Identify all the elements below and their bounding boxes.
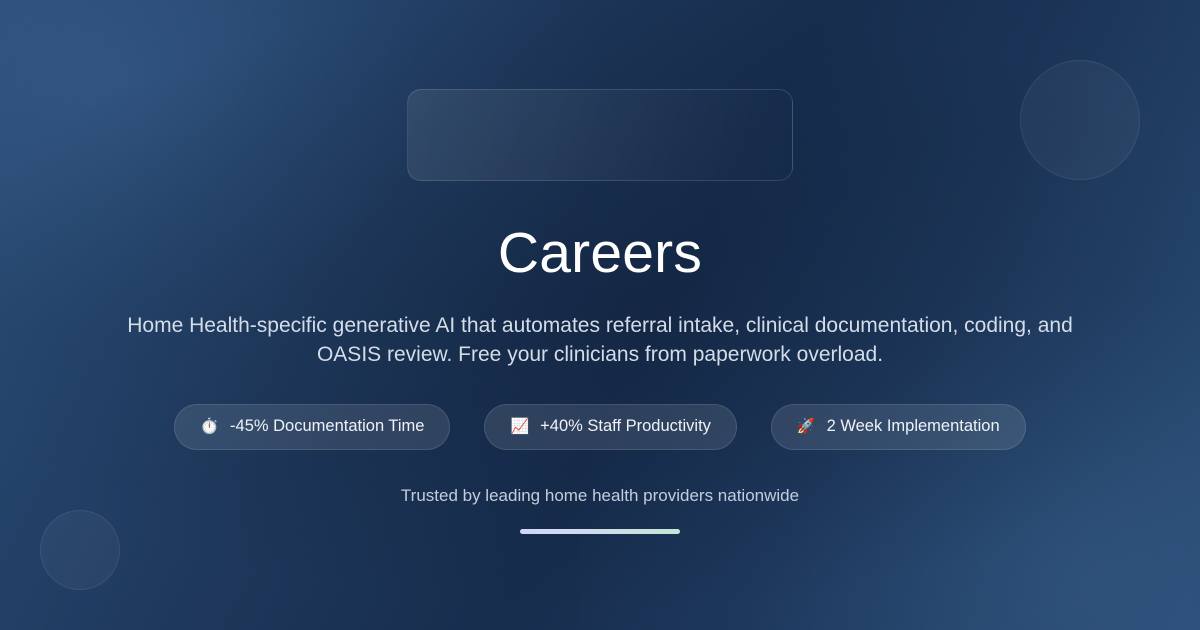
stat-badge-label: 2 Week Implementation	[827, 417, 1000, 436]
trust-line: Trusted by leading home health providers…	[401, 486, 799, 506]
stat-badge-staff-productivity[interactable]: 📈 +40% Staff Productivity	[484, 404, 736, 450]
stat-badge-implementation-time[interactable]: 🚀 2 Week Implementation	[771, 404, 1026, 450]
stopwatch-icon: ⏱️	[200, 419, 219, 434]
chart-increasing-icon: 📈	[510, 419, 529, 434]
hero-subtitle: Home Health-specific generative AI that …	[120, 311, 1080, 369]
stat-badge-row: ⏱️ -45% Documentation Time 📈 +40% Staff …	[174, 404, 1025, 450]
page-title: Careers	[498, 223, 702, 285]
stat-badge-documentation-time[interactable]: ⏱️ -45% Documentation Time	[174, 404, 450, 450]
accent-divider	[520, 529, 680, 534]
hero-section: Careers Home Health-specific generative …	[0, 0, 1200, 630]
stat-badge-label: +40% Staff Productivity	[540, 417, 711, 436]
rocket-icon: 🚀	[797, 419, 816, 434]
logo-placeholder	[407, 89, 793, 181]
stat-badge-label: -45% Documentation Time	[230, 417, 424, 436]
